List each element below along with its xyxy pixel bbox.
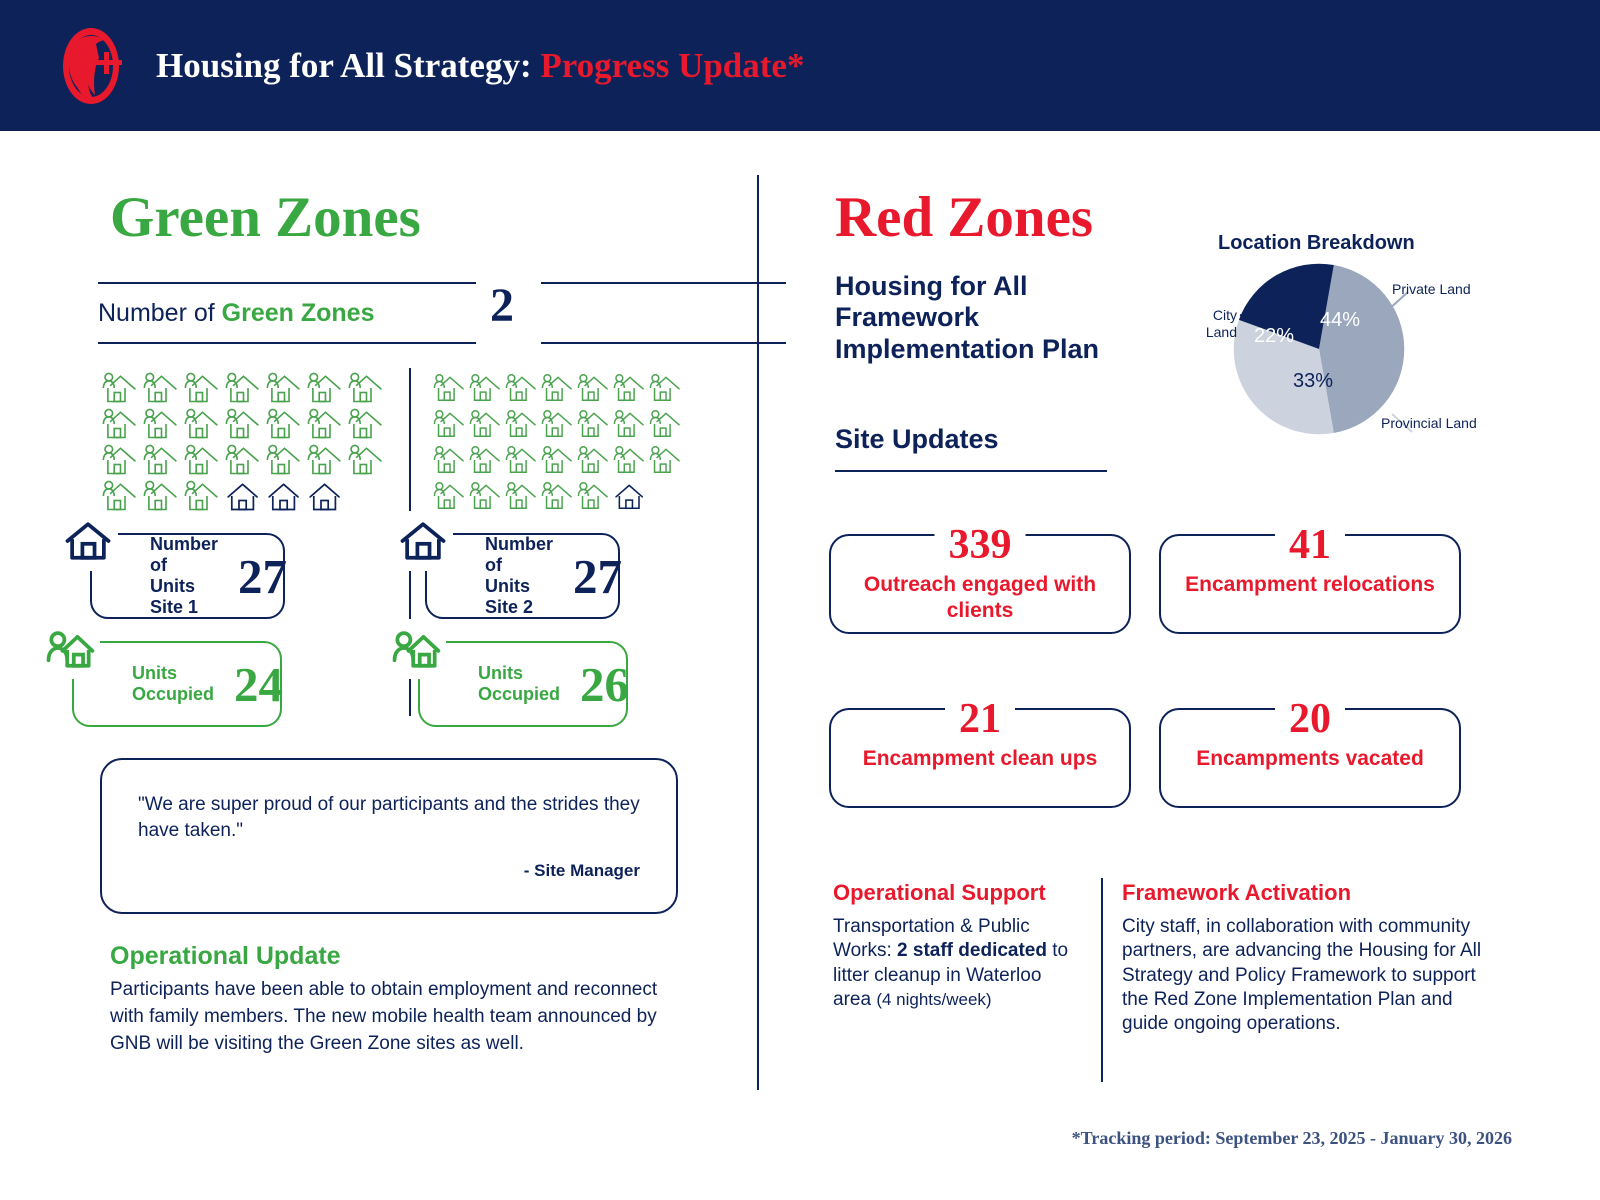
pie-label-private-land: Private Land	[1392, 281, 1471, 298]
house-with-person-icon	[576, 442, 612, 478]
unit-icon-occupied	[648, 442, 684, 478]
red-zones-heading: Red Zones	[835, 185, 1093, 250]
unit-icon-occupied	[576, 370, 612, 406]
site1-units-box: Number of Units Site 1 27	[90, 533, 285, 619]
house-with-person-icon	[264, 442, 305, 478]
unit-icon-occupied	[468, 370, 504, 406]
site-updates-rule	[835, 470, 1107, 472]
site1-occupied-label-line1: Units	[132, 663, 177, 683]
unit-icon-occupied	[346, 442, 387, 478]
house-with-person-icon	[141, 478, 182, 514]
page-title-main: Housing for All Strategy:	[156, 46, 532, 85]
framework-activation-title: Framework Activation	[1122, 880, 1351, 906]
pie-svg	[1232, 262, 1406, 436]
house-with-person-icon	[468, 442, 504, 478]
house-with-person-icon	[100, 478, 141, 514]
house-with-person-icon	[432, 442, 468, 478]
house-with-person-icon	[648, 442, 684, 478]
site2-units-card: Number of Units Site 2 27	[425, 533, 620, 619]
unit-icon-occupied	[305, 370, 346, 406]
house-with-person-icon	[223, 406, 264, 442]
red-zones-subtitle: Housing for All Framework Implementation…	[835, 271, 1145, 365]
house-with-person-icon	[141, 370, 182, 406]
site2-occupied-label: Units Occupied	[478, 663, 560, 705]
unit-icon-occupied	[504, 370, 540, 406]
green-zones-count-label-accent: Green Zones	[222, 299, 375, 327]
unit-icon-occupied	[346, 406, 387, 442]
unit-icon-occupied	[100, 478, 141, 514]
unit-icon-occupied	[468, 442, 504, 478]
house-with-person-icon	[386, 619, 446, 679]
pie-label-city-land: City Land	[1185, 307, 1237, 340]
green-operational-update-title: Operational Update	[110, 942, 341, 971]
unit-icon-occupied	[100, 442, 141, 478]
unit-icon-occupied	[182, 406, 223, 442]
house-icon	[305, 478, 346, 514]
site1-occupied-label: Units Occupied	[132, 663, 214, 705]
site2-occupied-label-line1: Units	[478, 663, 523, 683]
site2-occupied-box: Units Occupied 26	[418, 641, 628, 727]
house-with-person-icon	[540, 370, 576, 406]
unit-icon-occupied	[223, 442, 264, 478]
site2-units-label: Number of Units Site 2	[485, 534, 553, 619]
unit-icon-vacant	[223, 478, 264, 514]
house-icon	[393, 511, 453, 571]
unit-icon-occupied	[504, 442, 540, 478]
house-with-person-icon	[141, 406, 182, 442]
unit-icon-occupied	[432, 370, 468, 406]
house-icon	[264, 478, 305, 514]
unit-icon-occupied	[305, 406, 346, 442]
unit-icon-occupied	[182, 442, 223, 478]
unit-icon-occupied	[648, 370, 684, 406]
op-support-paren: (4 nights/week)	[876, 990, 991, 1009]
site1-units-label: Number of Units Site 1	[150, 534, 218, 619]
unit-icon-occupied	[100, 406, 141, 442]
operational-support-title: Operational Support	[833, 880, 1046, 906]
unit-icon-occupied	[612, 370, 648, 406]
house-with-person-icon	[504, 370, 540, 406]
unit-icon-occupied	[504, 406, 540, 442]
unit-icon-occupied	[540, 478, 576, 514]
kpi-encampment-relocations: 41 Encampment relocations	[1159, 516, 1461, 634]
kpi-value: 21	[959, 698, 1001, 740]
kpi-value-notch: 21	[945, 698, 1015, 740]
house-with-person-icon	[648, 406, 684, 442]
framework-activation-body: City staff, in collaboration with commun…	[1122, 915, 1502, 1037]
green-zones-count-label: Number of Green Zones	[98, 299, 375, 328]
house-with-person-icon	[612, 442, 648, 478]
green-zones-count-value: 2	[490, 278, 514, 333]
pie-chart-title: Location Breakdown	[1218, 232, 1415, 255]
unit-icon-occupied	[182, 478, 223, 514]
unit-icon-occupied	[432, 406, 468, 442]
house-with-person-icon	[40, 619, 100, 679]
pie-value-city-land: 22%	[1254, 325, 1294, 348]
operational-support-body: Transportation & Public Works: 2 staff d…	[833, 915, 1081, 1012]
house-with-person-icon	[504, 478, 540, 514]
unit-icon-occupied	[141, 478, 182, 514]
city-crest-logo-icon	[52, 24, 130, 108]
unit-icon-occupied	[540, 406, 576, 442]
house-with-person-icon	[468, 478, 504, 514]
unit-icon-occupied	[612, 442, 648, 478]
site1-occupied-label-line2: Occupied	[132, 684, 214, 704]
house-with-person-icon	[468, 370, 504, 406]
house-with-person-icon	[182, 406, 223, 442]
house-with-person-icon	[432, 478, 468, 514]
house-with-person-icon	[100, 442, 141, 478]
house-with-person-icon	[468, 406, 504, 442]
house-with-person-icon	[182, 478, 223, 514]
unit-icon-vacant	[305, 478, 346, 514]
pie-value-private-land: 44%	[1320, 309, 1360, 332]
house-with-person-icon	[540, 478, 576, 514]
unit-icon-occupied	[141, 370, 182, 406]
unit-icon-occupied	[576, 478, 612, 514]
site2-occupied-label-line2: Occupied	[478, 684, 560, 704]
house-with-person-icon	[612, 370, 648, 406]
unit-icon-occupied	[264, 370, 305, 406]
kpi-encampments-vacated: 20 Encampments vacated	[1159, 690, 1461, 808]
page-header: Housing for All Strategy: Progress Updat…	[0, 0, 1600, 131]
house-with-person-icon	[264, 406, 305, 442]
unit-icon-occupied	[612, 406, 648, 442]
kpi-label: Encampment relocations	[1159, 572, 1461, 598]
unit-icon-occupied	[346, 370, 387, 406]
house-with-person-icon	[100, 406, 141, 442]
house-with-person-icon	[223, 370, 264, 406]
site1-occupied-card: Units Occupied 24	[72, 641, 282, 727]
unit-icon-occupied	[468, 406, 504, 442]
house-with-person-icon	[612, 406, 648, 442]
kpi-encampment-clean-ups: 21 Encampment clean ups	[829, 690, 1131, 808]
site2-occupied-value: 26	[580, 656, 629, 713]
house-with-person-icon	[504, 442, 540, 478]
unit-icon-occupied	[141, 442, 182, 478]
green-operational-update-body: Participants have been able to obtain em…	[110, 977, 695, 1058]
house-icon	[223, 478, 264, 514]
unit-icon-occupied	[648, 406, 684, 442]
unit-icon-occupied	[576, 442, 612, 478]
unit-icon-occupied	[264, 406, 305, 442]
green-zones-count-row: Number of Green Zones 2	[98, 282, 688, 344]
house-with-person-icon	[576, 370, 612, 406]
site2-occupied-card: Units Occupied 26	[418, 641, 628, 727]
house-with-person-icon	[346, 442, 387, 478]
red-bottom-divider	[1101, 878, 1103, 1082]
unit-icon-occupied	[141, 406, 182, 442]
kpi-value-notch: 339	[935, 524, 1026, 566]
kpi-label: Encampments vacated	[1159, 746, 1461, 772]
op-support-emphasis: 2 staff dedicated	[897, 940, 1047, 961]
house-with-person-icon	[182, 442, 223, 478]
green-zones-count-label-band: Number of Green Zones	[98, 282, 476, 344]
site1-units-label-line2: Units Site 1	[150, 576, 198, 617]
site1-occupied-value: 24	[234, 656, 283, 713]
unit-icon-occupied	[100, 370, 141, 406]
house-with-person-icon	[305, 370, 346, 406]
site-updates-title: Site Updates	[835, 424, 999, 455]
kpi-label: Outreach engaged with clients	[829, 572, 1131, 623]
house-with-person-icon	[540, 406, 576, 442]
house-with-person-icon	[305, 442, 346, 478]
quote-attribution: - Site Manager	[138, 861, 640, 881]
unit-icon-occupied	[504, 478, 540, 514]
site2-units-box: Number of Units Site 2 27	[425, 533, 620, 619]
unit-icon-occupied	[540, 442, 576, 478]
unit-icon-occupied	[540, 370, 576, 406]
site1-units-label-line1: Number of	[150, 534, 218, 575]
unit-icon-occupied	[432, 442, 468, 478]
quote-text: "We are super proud of our participants …	[138, 792, 640, 843]
house-with-person-icon	[432, 370, 468, 406]
kpi-value: 20	[1289, 698, 1331, 740]
pie-label-provincial-land: Provincial Land	[1381, 415, 1477, 432]
house-with-person-icon	[141, 442, 182, 478]
house-with-person-icon	[540, 442, 576, 478]
house-with-person-icon	[576, 478, 612, 514]
house-with-person-icon	[264, 370, 305, 406]
site1-units-card: Number of Units Site 1 27	[90, 533, 285, 619]
site2-units-value: 27	[573, 548, 622, 605]
unit-icon-occupied	[576, 406, 612, 442]
house-with-person-icon	[504, 406, 540, 442]
house-with-person-icon	[346, 406, 387, 442]
house-with-person-icon	[182, 370, 223, 406]
kpi-value: 41	[1289, 524, 1331, 566]
unit-icon-occupied	[223, 406, 264, 442]
green-zones-heading: Green Zones	[110, 185, 421, 250]
house-with-person-icon	[576, 406, 612, 442]
site2-units-label-line1: Number of	[485, 534, 553, 575]
unit-icon-occupied	[432, 478, 468, 514]
unit-icon-occupied	[305, 442, 346, 478]
house-with-person-icon	[648, 370, 684, 406]
house-with-person-icon	[346, 370, 387, 406]
unit-icon-occupied	[223, 370, 264, 406]
kpi-value: 339	[949, 524, 1012, 566]
site-manager-quote-card: "We are super proud of our participants …	[100, 758, 678, 914]
house-with-person-icon	[100, 370, 141, 406]
location-breakdown-pie-chart	[1232, 262, 1406, 436]
tracking-period-note: *Tracking period: September 23, 2025 - J…	[0, 1128, 1512, 1149]
unit-icon-occupied	[468, 478, 504, 514]
house-with-person-icon	[305, 406, 346, 442]
kpi-label: Encampment clean ups	[829, 746, 1131, 772]
unit-icon-vacant	[612, 478, 648, 514]
page-title-accent: Progress Update*	[540, 46, 804, 85]
kpi-value-notch: 20	[1275, 698, 1345, 740]
green-zones-count-label-plain: Number of	[98, 299, 222, 327]
site1-occupied-box: Units Occupied 24	[72, 641, 282, 727]
site1-unit-icon-grid	[100, 370, 400, 514]
green-zones-count-rule-right	[541, 282, 786, 344]
pie-value-provincial-land: 33%	[1293, 370, 1333, 393]
site2-units-label-line2: Units Site 2	[485, 576, 533, 617]
site2-unit-icon-grid	[432, 370, 692, 514]
unit-icon-occupied	[264, 442, 305, 478]
page-title: Housing for All Strategy: Progress Updat…	[156, 46, 804, 86]
kpi-outreach-engaged: 339 Outreach engaged with clients	[829, 516, 1131, 634]
house-icon	[612, 478, 648, 514]
unit-icon-occupied	[182, 370, 223, 406]
site1-units-value: 27	[238, 548, 287, 605]
kpi-value-notch: 41	[1275, 524, 1345, 566]
unit-icon-vacant	[264, 478, 305, 514]
house-with-person-icon	[432, 406, 468, 442]
house-with-person-icon	[223, 442, 264, 478]
house-icon	[58, 511, 118, 571]
